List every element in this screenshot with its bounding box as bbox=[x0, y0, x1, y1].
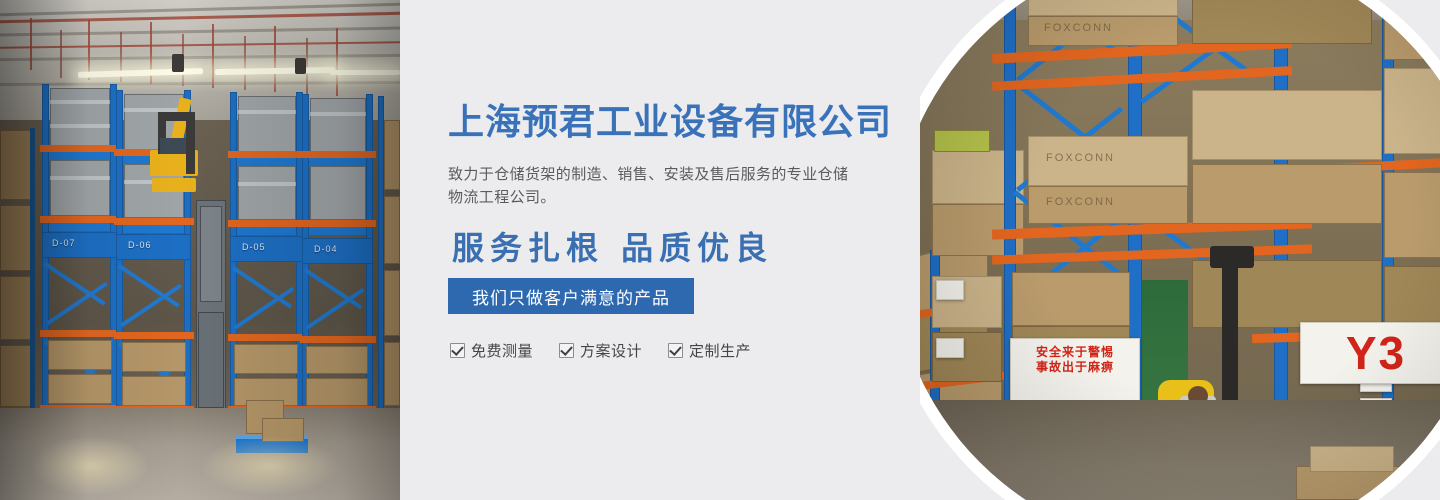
feature-item-scheme-design: 方案设计 bbox=[559, 340, 642, 361]
banner-subtitle: 致力于仓储货架的制造、销售、安装及售后服务的专业仓储物流工程公司。 bbox=[448, 163, 860, 209]
cta-button[interactable]: 我们只做客户满意的产品 bbox=[448, 278, 694, 314]
photo-left-vignette bbox=[0, 0, 400, 500]
feature-label: 免费测量 bbox=[471, 340, 533, 361]
warehouse-pallet-rack-photo: FOXCONN FOXCONN FOXCONN FOXCONN bbox=[920, 0, 1440, 500]
warehouse-pallet-rack-photo-wrap: FOXCONN FOXCONN FOXCONN FOXCONN bbox=[920, 0, 1440, 500]
photo-right-vignette bbox=[920, 0, 1440, 500]
feature-item-free-measurement: 免费测量 bbox=[450, 340, 533, 361]
hero-banner: D-07 D-06 bbox=[0, 0, 1440, 500]
check-box-icon bbox=[559, 343, 574, 358]
feature-item-custom-production: 定制生产 bbox=[668, 340, 751, 361]
page-title: 上海预君工业设备有限公司 bbox=[448, 100, 892, 144]
feature-label: 方案设计 bbox=[580, 340, 642, 361]
feature-list: 免费测量 方案设计 定制生产 bbox=[450, 340, 751, 361]
check-box-icon bbox=[450, 343, 465, 358]
feature-label: 定制生产 bbox=[689, 340, 751, 361]
banner-slogan: 服务扎根 品质优良 bbox=[452, 228, 773, 268]
check-box-icon bbox=[668, 343, 683, 358]
banner-content: 上海预君工业设备有限公司 致力于仓储货架的制造、销售、安装及售后服务的专业仓储物… bbox=[448, 0, 918, 500]
warehouse-narrow-aisle-photo: D-07 D-06 bbox=[0, 0, 400, 500]
photo-right-inner: FOXCONN FOXCONN FOXCONN FOXCONN bbox=[920, 0, 1440, 500]
